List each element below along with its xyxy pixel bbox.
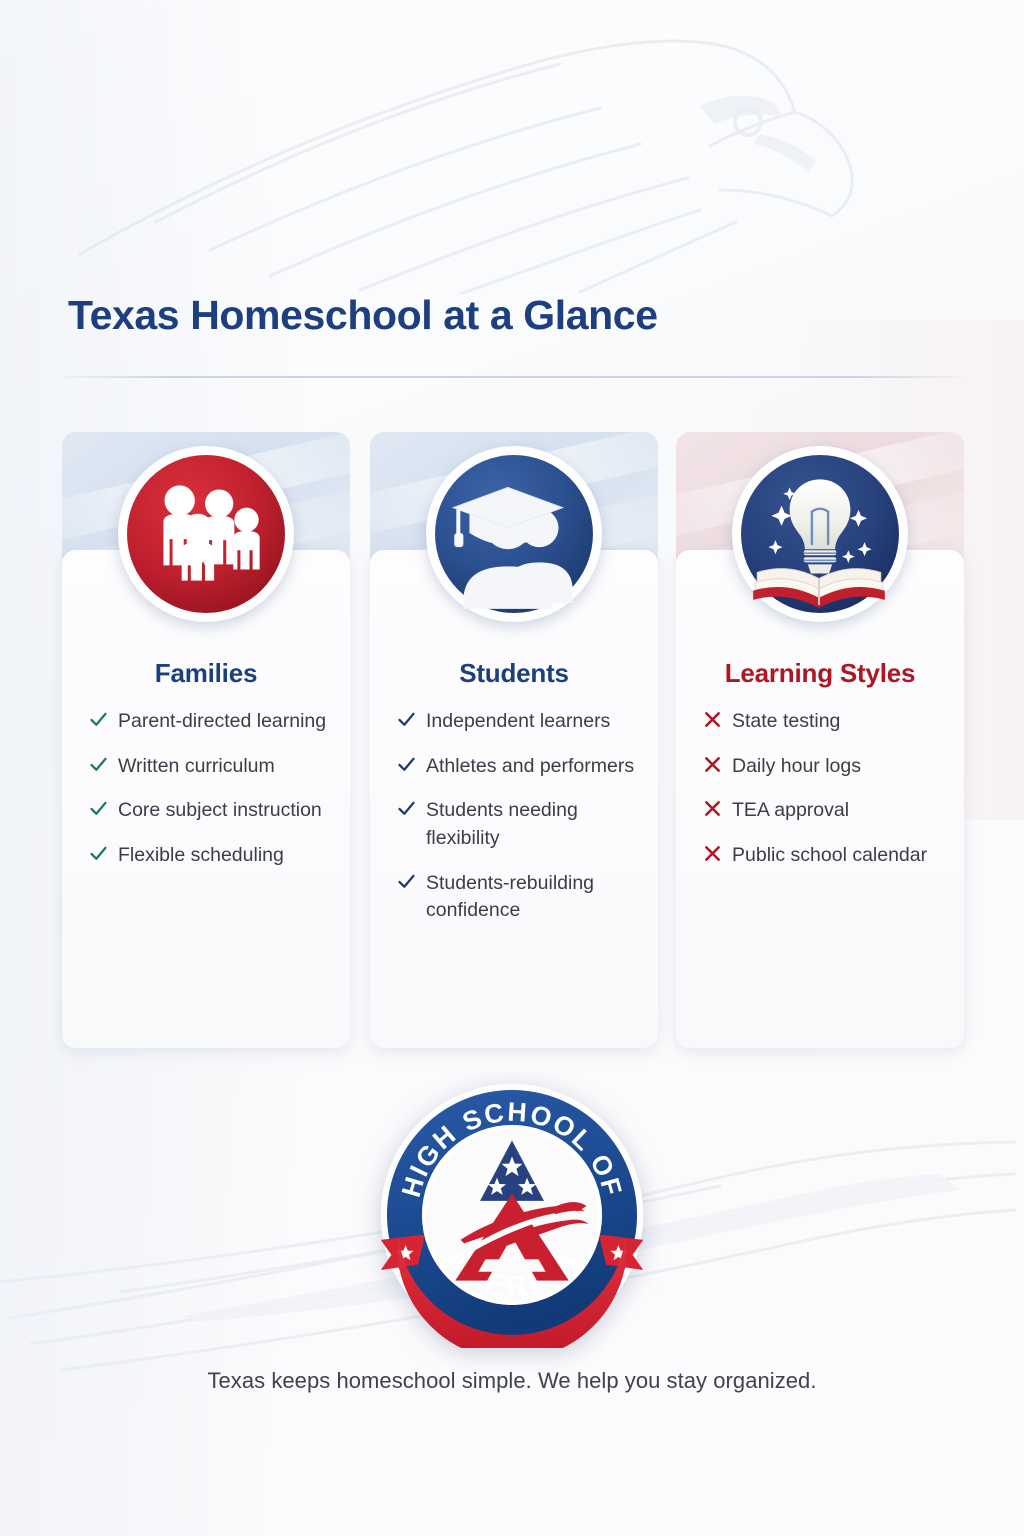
list-item-label: TEA approval (732, 797, 849, 825)
list-item: Public school calendar (702, 842, 948, 870)
high-school-of-america-seal: HIGH SCHOOL OF AMERICA (379, 1082, 645, 1348)
card-list: Parent-directed learning Written curricu… (88, 708, 334, 887)
check-icon (396, 709, 417, 734)
card-list: State testing Daily hour logs TEA approv… (702, 708, 948, 887)
card-learning-styles: Learning Styles State testing Daily hour… (676, 432, 964, 1048)
list-item-label: Students needing flexibility (426, 797, 642, 852)
card-title: Learning Styles (676, 658, 964, 689)
list-item: Parent-directed learning (88, 708, 334, 736)
lightbulb-book-icon (732, 446, 908, 622)
family-group-icon (118, 446, 294, 622)
graduate-student-icon (426, 446, 602, 622)
card-title: Families (62, 658, 350, 689)
list-item-label: Flexible scheduling (118, 842, 284, 870)
card-list: Independent learners Athletes and perfor… (396, 708, 642, 942)
card-body: Families Parent-directed learning Writte… (62, 550, 350, 1048)
list-item: Students needing flexibility (396, 797, 642, 852)
title-divider (62, 376, 962, 378)
eagle-head-watermark (60, 0, 920, 294)
check-icon (88, 754, 109, 779)
list-item: Written curriculum (88, 753, 334, 781)
list-item: TEA approval (702, 797, 948, 825)
infographic-poster: Texas Homeschool at a Glance (0, 0, 1024, 1536)
list-item: Students-rebuilding confidence (396, 870, 642, 925)
cross-icon (702, 798, 723, 823)
list-item-label: State testing (732, 708, 840, 736)
list-item: State testing (702, 708, 948, 736)
card-title: Students (370, 658, 658, 689)
card-body: Students Independent learners Athletes a… (370, 550, 658, 1048)
list-item-label: Parent-directed learning (118, 708, 326, 736)
list-item: Flexible scheduling (88, 842, 334, 870)
cross-icon (702, 754, 723, 779)
check-icon (396, 754, 417, 779)
check-icon (396, 871, 417, 896)
check-icon (88, 709, 109, 734)
check-icon (88, 798, 109, 823)
cross-icon (702, 843, 723, 868)
list-item: Athletes and performers (396, 753, 642, 781)
list-item: Independent learners (396, 708, 642, 736)
list-item: Core subject instruction (88, 797, 334, 825)
cross-icon (702, 709, 723, 734)
card-families: Families Parent-directed learning Writte… (62, 432, 350, 1048)
list-item-label: Daily hour logs (732, 753, 861, 781)
card-body: Learning Styles State testing Daily hour… (676, 550, 964, 1048)
list-item-label: Public school calendar (732, 842, 927, 870)
list-item-label: Independent learners (426, 708, 610, 736)
footer-tagline: Texas keeps homeschool simple. We help y… (0, 1368, 1024, 1394)
list-item: Daily hour logs (702, 753, 948, 781)
list-item-label: Core subject instruction (118, 797, 322, 825)
check-icon (88, 843, 109, 868)
list-item-label: Written curriculum (118, 753, 275, 781)
list-item-label: Students-rebuilding confidence (426, 870, 642, 925)
check-icon (396, 798, 417, 823)
list-item-label: Athletes and performers (426, 753, 634, 781)
page-title: Texas Homeschool at a Glance (68, 292, 658, 339)
card-students: Students Independent learners Athletes a… (370, 432, 658, 1048)
